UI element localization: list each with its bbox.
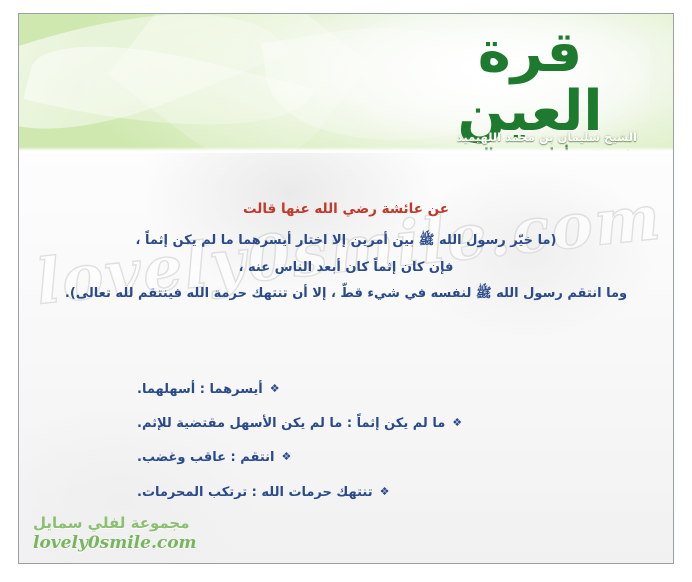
narrator-heading: عن عائشة رضي الله عنها قالت <box>19 201 673 217</box>
content-frame: قرة العين في شرح أحاديث من الصحيحين الشي… <box>18 13 674 564</box>
diamond-bullet-icon: ❖ <box>380 484 390 499</box>
logo-title: قرة العين <box>405 24 655 142</box>
brand-site-label: lovely0smile.com <box>33 533 197 553</box>
list-item-label: أيسرهما : أسهلهما. <box>137 381 263 399</box>
list-item: ❖ ما لم يكن إثماً : ما لم يكن الأسهل مقت… <box>47 415 645 433</box>
diamond-bullet-icon: ❖ <box>452 415 462 430</box>
list-item-label: ما لم يكن إثماً : ما لم يكن الأسهل مقتضي… <box>137 415 445 433</box>
hadith-line: (ما خيّر رسول الله ﷺ بين أمرين إلا اختار… <box>19 228 673 255</box>
list-item: ❖ أيسرهما : أسهلهما. <box>47 381 645 399</box>
diamond-bullet-icon: ❖ <box>281 449 291 464</box>
list-item: ❖ انتقم : عاقب وغضب. <box>47 449 645 467</box>
hadith-line: فإن كان إثماً كان أبعد الناس عنه ، <box>19 255 673 282</box>
list-item-label: تنتهك حرمات الله : ترتكب المحرمات. <box>137 484 373 502</box>
author-name: الشيخ سليمان بن محمد اللهيميد <box>457 130 659 144</box>
list-item-label: انتقم : عاقب وغضب. <box>137 449 274 467</box>
list-item: ❖ تنتهك حرمات الله : ترتكب المحرمات. <box>47 484 645 502</box>
footer-branding: مجموعة لفلي سمايل lovely0smile.com <box>33 514 197 553</box>
content-body: lovely0smile.com عن عائشة رضي الله عنها … <box>19 153 673 563</box>
hadith-line: وما انتقم رسول الله ﷺ لنفسه في شيء قطّ ،… <box>19 281 673 308</box>
page-root: قرة العين في شرح أحاديث من الصحيحين الشي… <box>0 0 692 582</box>
site-header: قرة العين في شرح أحاديث من الصحيحين الشي… <box>19 14 673 153</box>
hadith-block: عن عائشة رضي الله عنها قالت (ما خيّر رسو… <box>19 201 673 308</box>
author-strip: الشيخ سليمان بن محمد اللهيميد <box>19 126 673 145</box>
logo-subtitle: في شرح أحاديث من الصحيحين <box>405 146 655 153</box>
brand-arabic-label: مجموعة لفلي سمايل <box>33 514 197 532</box>
explanation-list: ❖ أيسرهما : أسهلهما. ❖ ما لم يكن إثماً :… <box>47 381 645 502</box>
diamond-bullet-icon: ❖ <box>270 381 280 396</box>
